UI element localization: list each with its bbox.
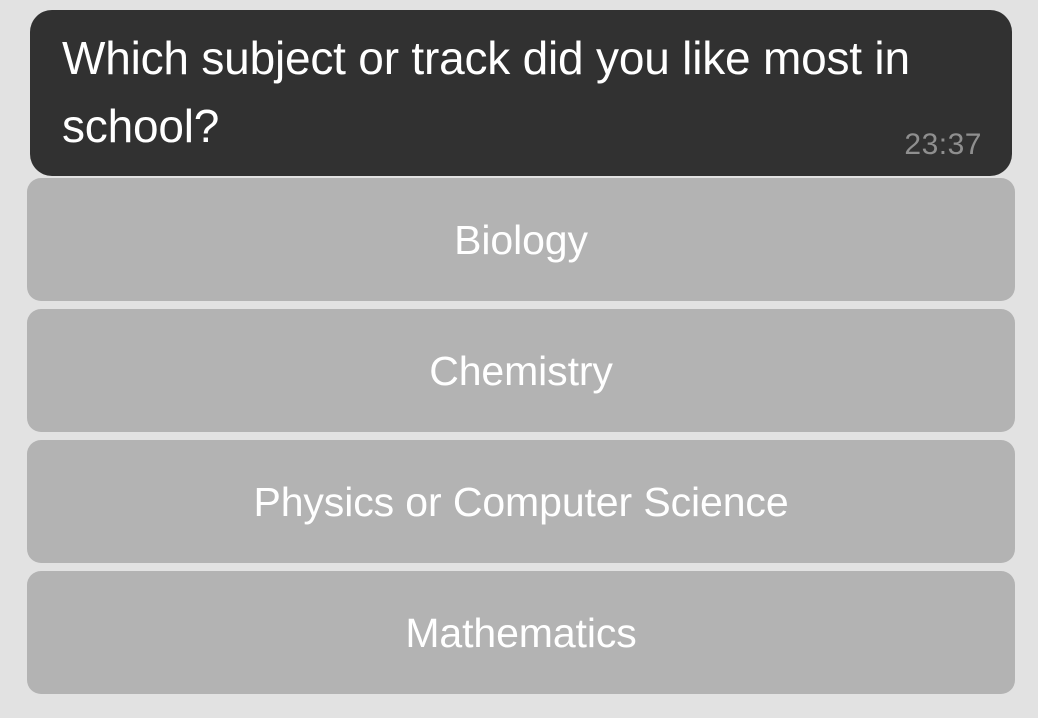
message-text: Which subject or track did you like most… [62, 24, 988, 160]
option-button-physics-or-computer-science[interactable]: Physics or Computer Science [27, 440, 1015, 563]
option-label: Mathematics [405, 609, 636, 657]
reply-options-list: Biology Chemistry Physics or Computer Sc… [27, 178, 1015, 694]
message-row-incoming: Which subject or track did you like most… [30, 10, 1012, 176]
option-button-chemistry[interactable]: Chemistry [27, 309, 1015, 432]
message-timestamp: 23:37 [904, 130, 982, 160]
option-label: Chemistry [429, 347, 613, 395]
option-button-biology[interactable]: Biology [27, 178, 1015, 301]
message-bubble: Which subject or track did you like most… [30, 10, 1012, 176]
option-label: Physics or Computer Science [253, 478, 788, 526]
option-label: Biology [454, 216, 588, 264]
chat-screen: Which subject or track did you like most… [0, 0, 1038, 718]
message-meta: 23:37 [904, 130, 982, 160]
option-button-mathematics[interactable]: Mathematics [27, 571, 1015, 694]
